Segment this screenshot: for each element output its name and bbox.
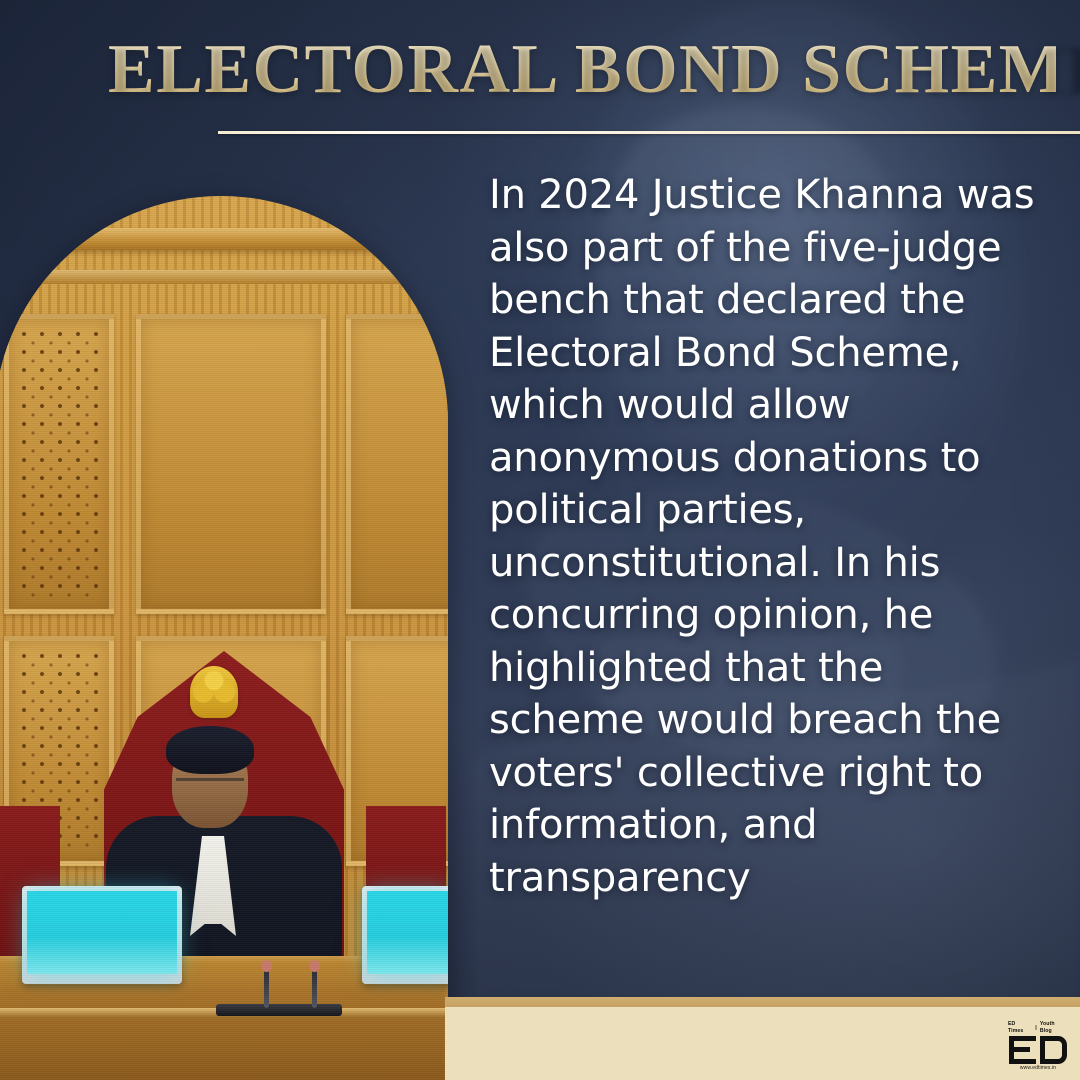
judge-hair — [166, 726, 254, 774]
logo-tagline: Youth Blog — [1040, 1021, 1068, 1035]
ed-times-logo[interactable]: ED Times | Youth Blog www.edtimes.in — [1008, 1021, 1068, 1067]
wall-panel-left — [4, 314, 114, 614]
microphone-stem-right — [312, 968, 317, 1008]
laptop-left-screen — [27, 891, 177, 974]
national-emblem-icon — [190, 666, 238, 718]
microphone-head-left — [261, 960, 272, 972]
logo-brandline: ED Times | Youth Blog — [1008, 1021, 1068, 1035]
laptop-left — [22, 886, 182, 984]
wall-panel-center — [136, 314, 326, 614]
judge-glasses-icon — [176, 778, 244, 791]
logo-url: www.edtimes.in — [1008, 1064, 1068, 1072]
microphone-head-right — [309, 960, 320, 972]
wall-cornice-lower — [0, 270, 448, 284]
jali-carving — [19, 329, 99, 599]
page-title: ELECTORAL BOND SCHEME — [108, 22, 1056, 118]
laptop-right-screen — [367, 891, 448, 974]
courtroom-photo-inner — [0, 196, 448, 1080]
poster-canvas: ELECTORAL BOND SCHEME — [0, 0, 1080, 1080]
footer-cream-bar — [445, 1007, 1080, 1080]
title-divider — [218, 131, 1080, 134]
logo-brand: ED Times — [1008, 1021, 1032, 1035]
footer-gold-strip — [445, 997, 1080, 1007]
ed-monogram-icon — [1009, 1036, 1067, 1064]
logo-separator: | — [1035, 1025, 1037, 1032]
microphone-stem-left — [264, 968, 269, 1008]
laptop-right — [362, 886, 448, 984]
courtroom-photo — [0, 196, 448, 1080]
microphone-base — [216, 1004, 342, 1016]
body-text: In 2024 Justice Khanna was also part of … — [489, 169, 1049, 904]
wall-panel-right — [346, 314, 448, 614]
wall-cornice-upper — [0, 228, 448, 250]
